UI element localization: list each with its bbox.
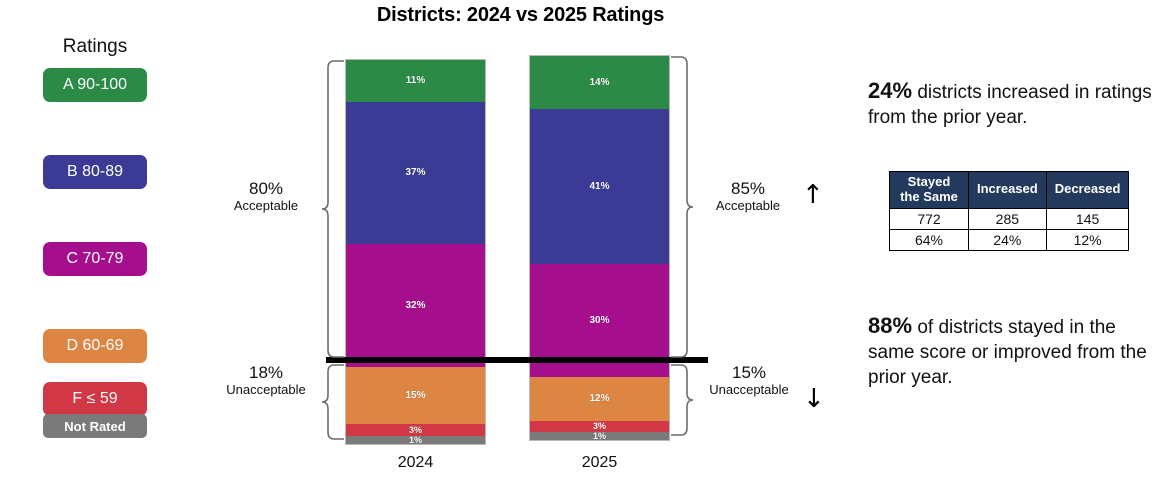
callout-acceptable-2025-pct: 85%: [696, 180, 800, 198]
callout-unacceptable-2025-label: Unacceptable: [694, 382, 804, 397]
legend-item-d[interactable]: D 60-69: [30, 329, 210, 382]
legend-chip-d[interactable]: D 60-69: [43, 329, 147, 363]
table-row: 772 285 145: [890, 208, 1129, 229]
callout-unacceptable-2025-pct: 15%: [694, 364, 804, 382]
table-header-stayed-same: Stayed the Same: [890, 172, 969, 209]
table-cell-decreased-pct: 12%: [1046, 229, 1129, 250]
legend-item-notrated[interactable]: Not Rated: [30, 414, 210, 438]
segment-label-2025-d: 12%: [589, 394, 609, 404]
table-cell-decreased-count: 145: [1046, 208, 1129, 229]
legend-label-c: C 70-79: [67, 250, 124, 268]
legend-item-c[interactable]: C 70-79: [30, 242, 210, 329]
bar-2025[interactable]: 14% 41% 30% 12% 3% 1%: [530, 56, 669, 440]
segment-2024-notrated[interactable]: 1%: [346, 436, 485, 444]
segment-2025-a[interactable]: 14%: [530, 56, 669, 109]
table-cell-increased-pct: 24%: [969, 229, 1047, 250]
callout-acceptable-2024-label: Acceptable: [214, 198, 318, 213]
segment-label-2024-c: 32%: [405, 301, 425, 311]
segment-label-2024-notrated: 1%: [409, 436, 422, 445]
segment-label-2024-a: 11%: [406, 76, 425, 86]
callout-unacceptable-2024-pct: 18%: [214, 364, 318, 382]
stat-increased-number: 24%: [868, 78, 912, 103]
legend-item-f[interactable]: F ≤ 59: [30, 382, 210, 416]
table-cell-increased-count: 285: [969, 208, 1047, 229]
legend-item-a[interactable]: A 90-100: [30, 68, 210, 155]
legend-title: Ratings: [30, 36, 160, 58]
stat-stayed-or-improved: 88% of districts stayed in the same scor…: [868, 311, 1156, 390]
legend-label-f: F ≤ 59: [72, 390, 117, 408]
segment-2025-d[interactable]: 12%: [530, 377, 669, 421]
callout-unacceptable-2024-label: Unacceptable: [214, 382, 318, 397]
callout-acceptable-2025-label: Acceptable: [696, 198, 800, 213]
stacked-bar-chart: 11% 37% 32% 15% 3% 1% 14% 41% 30% 12% 3%…: [230, 46, 830, 486]
acceptable-threshold-line: [326, 357, 708, 363]
arrow-up-icon: ↑: [802, 182, 824, 208]
legend-label-d: D 60-69: [67, 337, 124, 355]
table-cell-stayed-same-pct: 64%: [890, 229, 969, 250]
brace-acceptable-2024: [320, 60, 346, 358]
segment-label-2024-f: 3%: [409, 426, 422, 435]
brace-acceptable-2025: [669, 56, 695, 358]
legend-chip-c[interactable]: C 70-79: [43, 242, 147, 276]
legend: Ratings A 90-100 B 80-89 C 70-79 D 60-69…: [30, 36, 210, 438]
legend-label-a: A 90-100: [63, 76, 127, 94]
page-title: Districts: 2024 vs 2025 Ratings: [0, 4, 1041, 27]
arrow-down-icon: ↓: [803, 386, 825, 412]
x-tick-2025: 2025: [530, 454, 669, 472]
segment-label-2025-a: 14%: [589, 78, 609, 88]
segment-label-2024-d: 15%: [405, 391, 425, 401]
stat-increased: 24% districts increased in ratings from …: [868, 76, 1153, 130]
legend-chip-a[interactable]: A 90-100: [43, 68, 147, 102]
table-header-decreased: Decreased: [1046, 172, 1129, 209]
segment-label-2025-notrated: 1%: [593, 432, 606, 441]
bar-2024[interactable]: 11% 37% 32% 15% 3% 1%: [346, 60, 485, 444]
callout-acceptable-2024-pct: 80%: [214, 180, 318, 198]
segment-2024-b[interactable]: 37%: [346, 102, 485, 244]
stat-stayed-number: 88%: [868, 313, 912, 338]
legend-label-b: B 80-89: [67, 163, 123, 181]
callout-acceptable-2025: 85% Acceptable: [696, 180, 800, 213]
legend-chip-b[interactable]: B 80-89: [43, 155, 147, 189]
segment-2024-c[interactable]: 32%: [346, 244, 485, 367]
callout-acceptable-2024: 80% Acceptable: [214, 180, 318, 213]
segment-2024-a[interactable]: 11%: [346, 60, 485, 102]
segment-2025-b[interactable]: 41%: [530, 109, 669, 264]
brace-unacceptable-2024: [320, 364, 346, 440]
x-tick-2024: 2024: [346, 454, 485, 472]
table-cell-stayed-same-count: 772: [890, 208, 969, 229]
callout-unacceptable-2025: 15% Unacceptable: [694, 364, 804, 397]
segment-2025-notrated[interactable]: 1%: [530, 432, 669, 440]
segment-label-2025-b: 41%: [589, 182, 609, 192]
brace-unacceptable-2025: [669, 364, 695, 436]
legend-chip-notrated[interactable]: Not Rated: [43, 414, 147, 438]
legend-label-notrated: Not Rated: [64, 419, 125, 434]
segment-2024-d[interactable]: 15%: [346, 367, 485, 424]
legend-item-b[interactable]: B 80-89: [30, 155, 210, 242]
table-header-increased: Increased: [969, 172, 1047, 209]
legend-chip-f[interactable]: F ≤ 59: [43, 382, 147, 416]
segment-label-2025-f: 3%: [593, 422, 606, 431]
table-header-row: Stayed the Same Increased Decreased: [890, 172, 1129, 209]
segment-label-2025-c: 30%: [589, 316, 609, 326]
segment-label-2024-b: 37%: [405, 168, 425, 178]
table-row: 64% 24% 12%: [890, 229, 1129, 250]
summary-table: Stayed the Same Increased Decreased 772 …: [889, 171, 1129, 251]
callout-unacceptable-2024: 18% Unacceptable: [214, 364, 318, 397]
